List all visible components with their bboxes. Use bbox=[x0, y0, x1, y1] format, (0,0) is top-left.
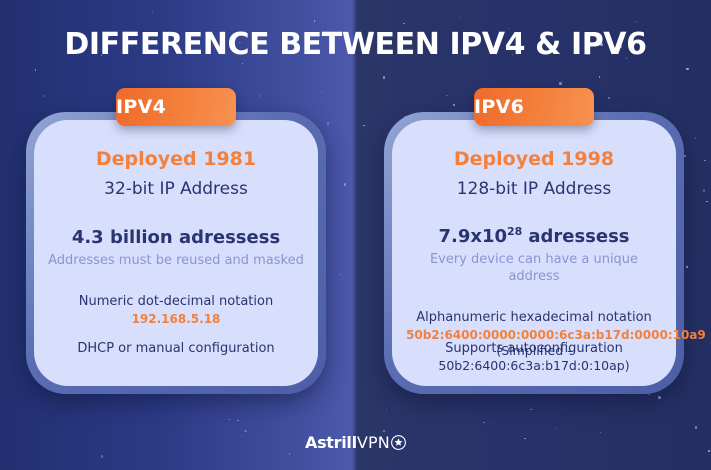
address-note-ipv4: Addresses must be reused and masked bbox=[48, 253, 304, 270]
deployed-year-ipv6: Deployed 1998 bbox=[406, 148, 662, 170]
notation-label-ipv4: Numeric dot-decimal notation bbox=[48, 294, 304, 309]
badge-ipv4: IPV4 bbox=[116, 88, 236, 126]
logo-bold-text: Astrill bbox=[305, 433, 357, 452]
deployed-year-ipv4: Deployed 1981 bbox=[48, 148, 304, 170]
star-circle-icon bbox=[391, 435, 406, 450]
badge-ipv6: IPV6 bbox=[474, 88, 594, 126]
card-ipv6: IPV6 Deployed 1998 128-bit IP Address 7.… bbox=[384, 112, 684, 394]
address-count-ipv6: 7.9x1028adressess bbox=[406, 225, 662, 247]
address-count-ipv4: 4.3 billion adressess bbox=[48, 227, 304, 248]
config-method-ipv4: DHCP or manual configuration bbox=[34, 341, 318, 356]
address-note-ipv6: Every device can have a unique address bbox=[406, 252, 662, 286]
card-ipv6-body: Deployed 1998 128-bit IP Address 7.9x102… bbox=[392, 120, 676, 386]
logo-light-text: VPN bbox=[357, 433, 390, 452]
notation-value-ipv6: 50b2:6400:0000:0000:6c3a:b17d:0000:10a9 bbox=[406, 328, 662, 342]
notation-value-ipv4: 192.168.5.18 bbox=[48, 312, 304, 326]
card-ipv4-body: Deployed 1981 32-bit IP Address 4.3 bill… bbox=[34, 120, 318, 386]
config-method-ipv6: Supports autoconfiguration bbox=[392, 341, 676, 356]
astrill-vpn-logo: AstrillVPN bbox=[0, 435, 711, 451]
page-title: Difference Between IPv4 & IPv6 bbox=[0, 27, 711, 62]
address-bits-ipv6: 128-bit IP Address bbox=[406, 179, 662, 199]
count-base: 7.9x10 bbox=[438, 226, 507, 247]
address-bits-ipv4: 32-bit IP Address bbox=[48, 179, 304, 199]
notation-label-ipv6: Alphanumeric hexadecimal notation bbox=[406, 310, 662, 325]
count-exponent: 28 bbox=[507, 225, 522, 238]
card-ipv4: IPV4 Deployed 1981 32-bit IP Address 4.3… bbox=[26, 112, 326, 394]
count-suffix: adressess bbox=[528, 226, 629, 247]
